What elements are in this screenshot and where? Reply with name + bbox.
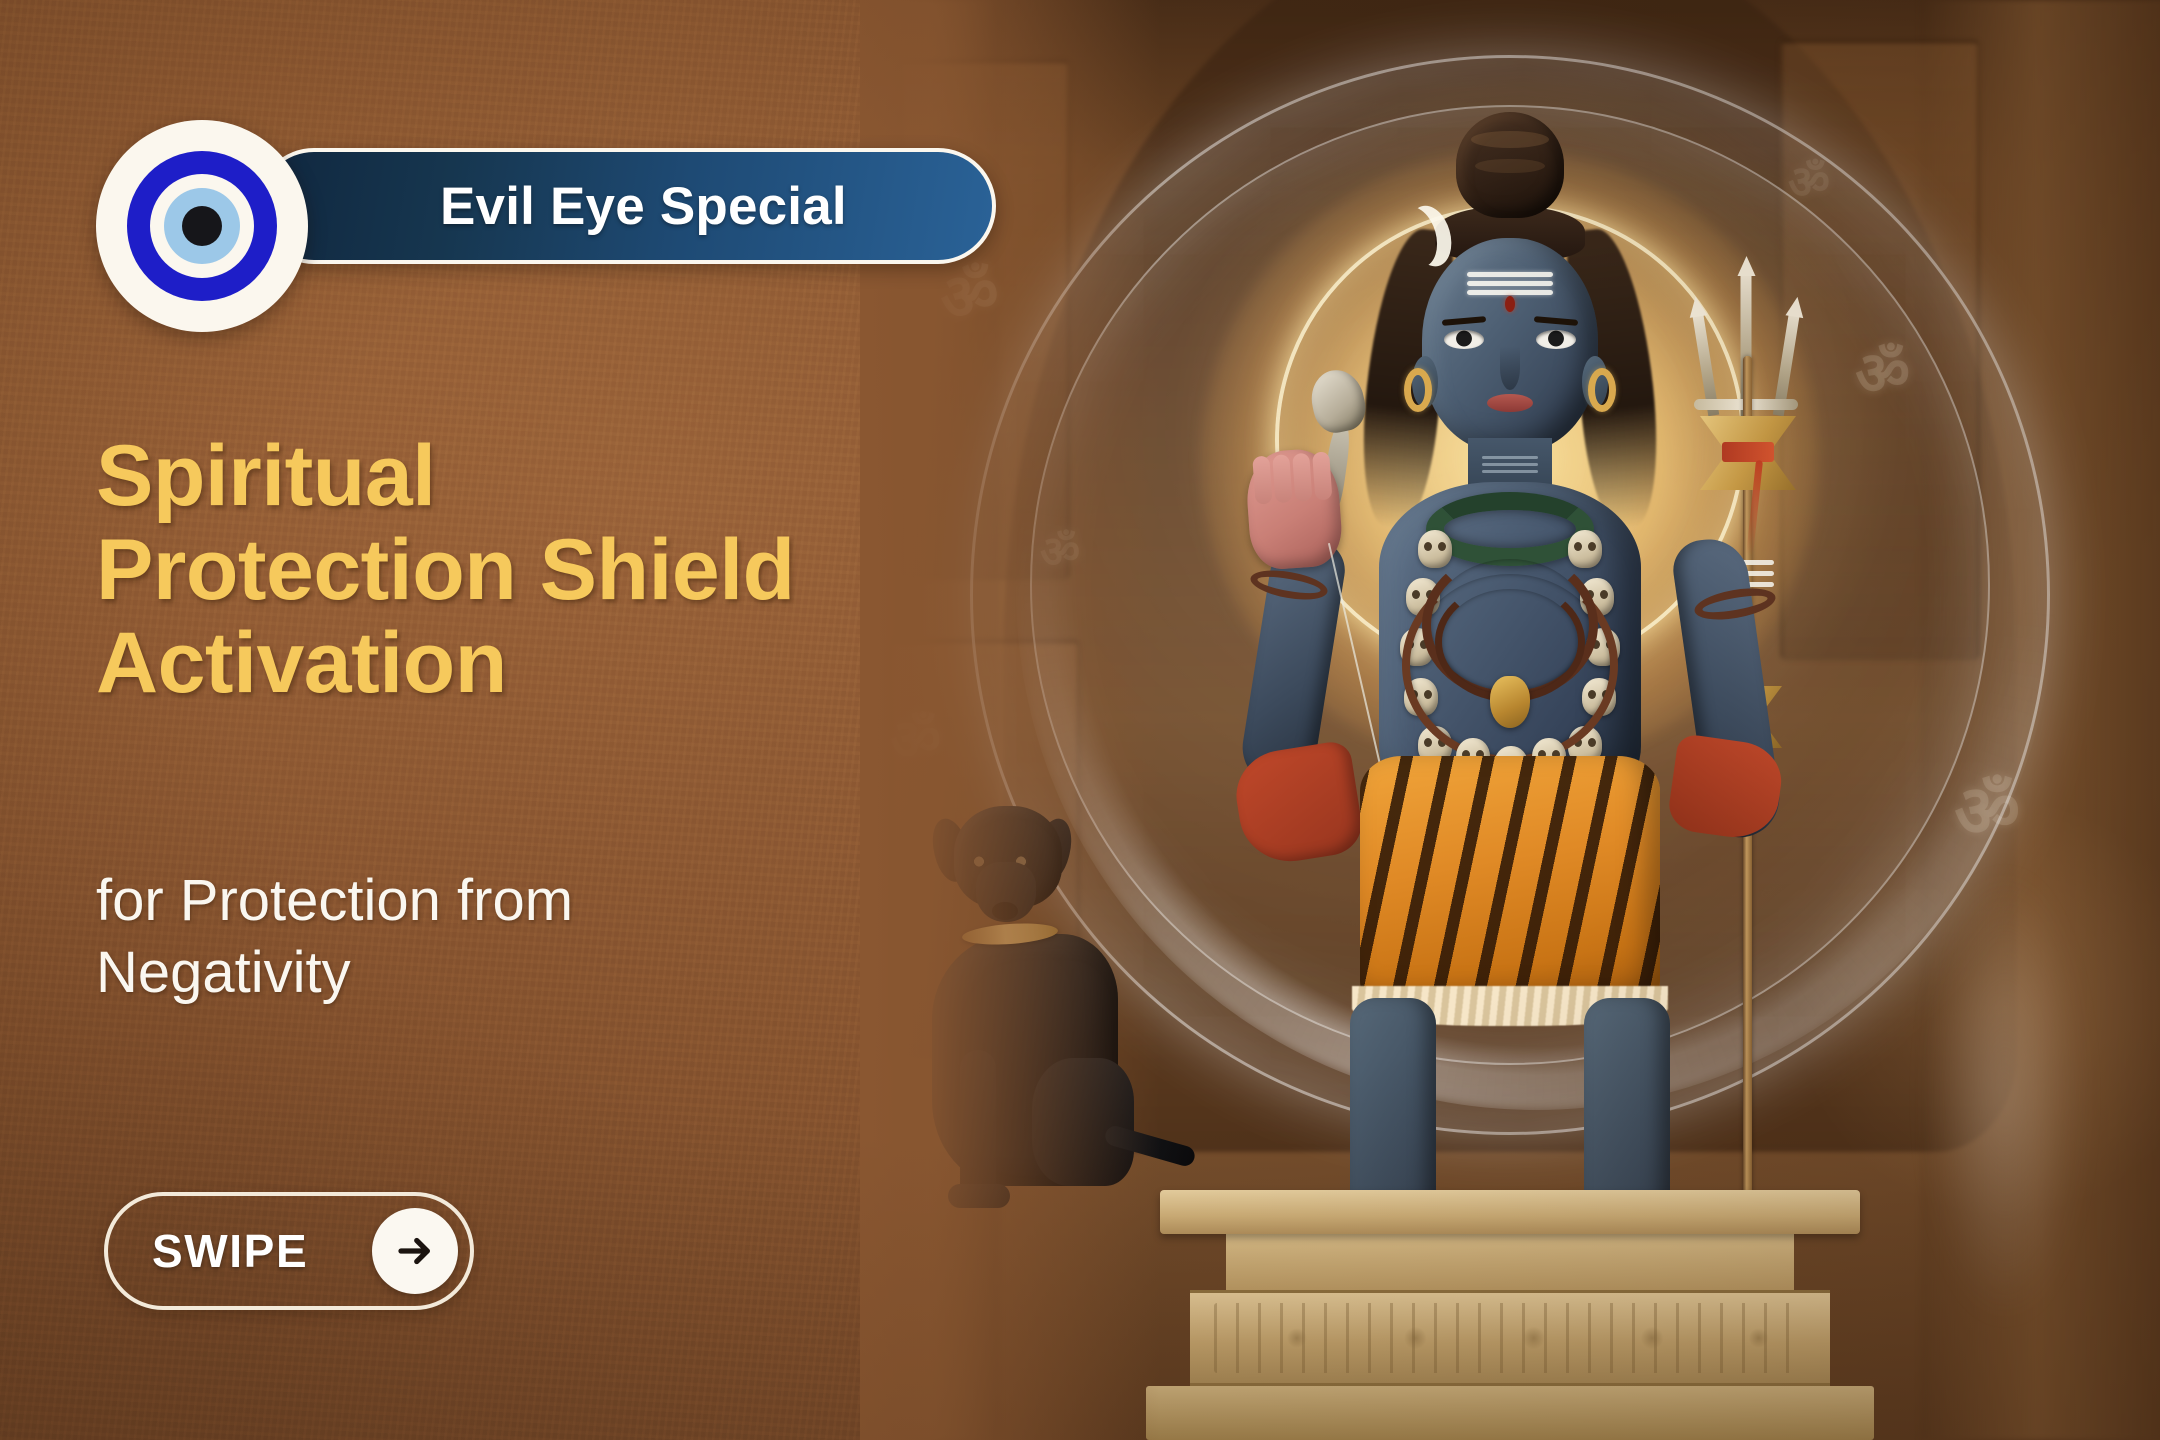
heading-line-3: Activation bbox=[96, 617, 926, 711]
earring-right bbox=[1588, 368, 1616, 412]
evil-eye-blue-ring bbox=[127, 151, 277, 301]
dog-haunch bbox=[1032, 1058, 1134, 1186]
dog-front-leg bbox=[960, 1050, 996, 1200]
heading-line-1: Spiritual bbox=[96, 430, 926, 524]
page-subtitle: for Protection from Negativity bbox=[96, 865, 836, 1009]
evil-eye-white-ring bbox=[150, 174, 254, 278]
nose bbox=[1500, 346, 1520, 390]
earring-left bbox=[1404, 368, 1432, 412]
pedestal-base bbox=[1146, 1386, 1874, 1440]
eye-right bbox=[1536, 330, 1576, 349]
neck-lines bbox=[1482, 456, 1538, 474]
third-eye bbox=[1505, 296, 1515, 312]
cobra-hood bbox=[1306, 365, 1370, 436]
evil-eye-icon bbox=[96, 120, 308, 332]
pedestal-scrollwork bbox=[1214, 1303, 1806, 1373]
pendant bbox=[1490, 676, 1530, 728]
shiva-figure bbox=[1200, 120, 1820, 1300]
eye-left bbox=[1444, 330, 1484, 349]
black-dog bbox=[928, 806, 1158, 1226]
stone-pedestal bbox=[1130, 1190, 1890, 1440]
eyebrow-left bbox=[1442, 316, 1486, 326]
swipe-circle[interactable] bbox=[372, 1208, 458, 1294]
dog-eye-left bbox=[972, 856, 986, 867]
swipe-label: SWIPE bbox=[152, 1224, 308, 1278]
heading-line-2: Protection Shield bbox=[96, 524, 926, 618]
tiger-skin-dhoti bbox=[1360, 756, 1660, 1006]
content-column: Evil Eye Special Spiritual Protection Sh… bbox=[0, 0, 900, 1440]
evil-eye-pupil bbox=[182, 206, 222, 246]
swipe-button[interactable]: SWIPE bbox=[104, 1192, 474, 1310]
poster-canvas: ॐ ॐ ॐ ॐ ॐ ॐ bbox=[0, 0, 2160, 1440]
shiva-head bbox=[1422, 238, 1598, 452]
arrow-right-icon bbox=[394, 1230, 436, 1272]
shiva-artwork: ॐ ॐ ॐ ॐ ॐ ॐ bbox=[860, 0, 2160, 1440]
dog-paw bbox=[948, 1184, 1010, 1208]
pedestal-top-slab bbox=[1160, 1190, 1860, 1234]
dog-nose bbox=[992, 902, 1018, 920]
damaru-band bbox=[1722, 442, 1774, 462]
page-title: Spiritual Protection Shield Activation bbox=[96, 430, 926, 711]
pedestal-carved-band bbox=[1190, 1290, 1830, 1386]
tripundra-mark bbox=[1467, 272, 1553, 294]
badge-pill[interactable]: Evil Eye Special bbox=[256, 148, 996, 264]
subtitle-line-1: for Protection from bbox=[96, 865, 836, 937]
pedestal-mid bbox=[1226, 1234, 1794, 1290]
badge-label: Evil Eye Special bbox=[440, 176, 847, 237]
lips bbox=[1487, 394, 1533, 412]
jata-bun bbox=[1456, 112, 1564, 218]
evil-eye-iris bbox=[164, 188, 240, 264]
subtitle-line-2: Negativity bbox=[96, 937, 836, 1009]
eyebrow-right bbox=[1534, 316, 1578, 326]
